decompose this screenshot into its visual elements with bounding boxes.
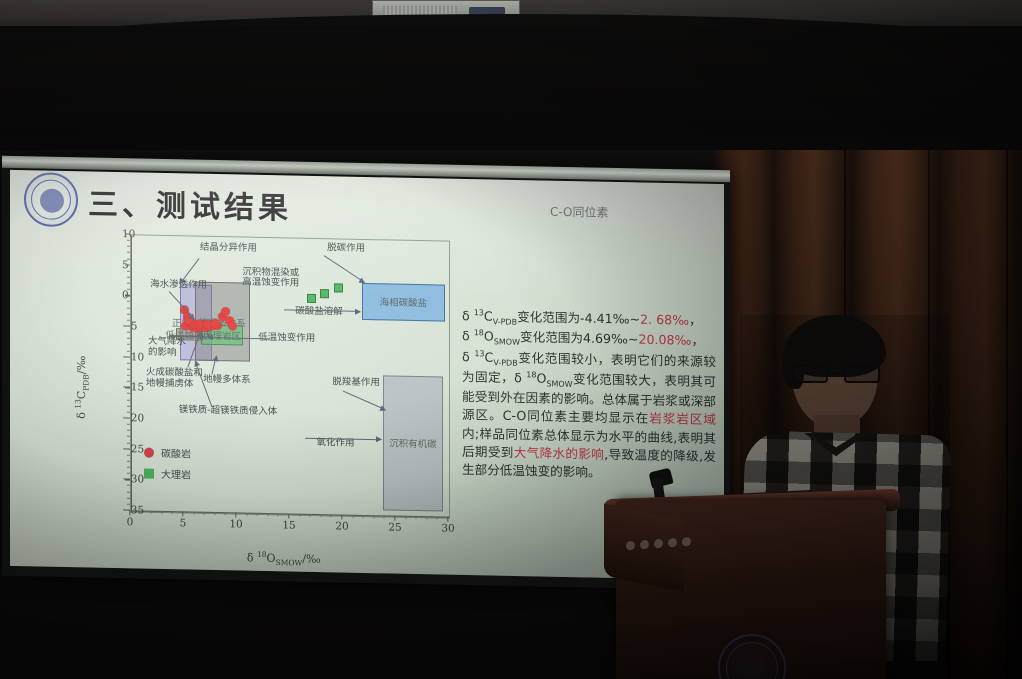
y-tick-minor — [127, 246, 130, 247]
y-tick-mark — [125, 325, 130, 326]
legend-marker-circle-icon — [144, 447, 154, 457]
x-tick-mark — [447, 517, 448, 522]
legend-label: 大理岩 — [161, 466, 191, 482]
y-axis-label: δ 13CPDB/‰ — [74, 356, 91, 419]
x-tick-minor — [278, 513, 279, 516]
y-tick-minor — [127, 240, 130, 241]
x-tick-minor — [310, 514, 311, 517]
y-tick-minor — [127, 399, 130, 400]
y-tick-minor — [127, 497, 130, 498]
chart-field-label: 海相碳酸盐 — [380, 295, 428, 310]
annotation-arrow — [343, 390, 386, 410]
x-tick-minor — [161, 511, 162, 514]
y-tick-minor — [127, 381, 130, 382]
photo-scene: 三、测试结果 C-O同位素 δ 13CPDB/‰ δ 18OSMOW/‰ 海相碳… — [0, 0, 1022, 679]
x-tick-minor — [373, 515, 374, 518]
y-tick-minor — [127, 344, 130, 345]
data-point-marble — [320, 289, 329, 298]
y-tick-minor — [127, 442, 130, 443]
x-tick-mark — [182, 511, 183, 516]
chart-annotation: 脱碳作用 — [327, 244, 365, 256]
y-tick-minor — [127, 485, 130, 486]
x-tick-minor — [384, 515, 385, 518]
x-tick-minor — [437, 516, 438, 519]
x-tick-minor — [320, 514, 321, 517]
slide-body-text: δ 13CV-PDB变化范围为-4.41‰~2. 68‰，δ 18OSMOW变化… — [462, 307, 716, 485]
y-tick-minor — [127, 258, 130, 259]
legend-label: 碳酸岩 — [161, 445, 191, 461]
y-tick-minor — [127, 405, 130, 406]
x-tick-mark — [341, 515, 342, 520]
chart-annotation: 地幔多体系 — [203, 375, 251, 387]
wood-seam — [1006, 150, 1008, 679]
x-tick-mark — [129, 510, 130, 515]
chart-annotation: 氧化作用 — [317, 438, 355, 450]
y-tick-minor — [127, 436, 130, 437]
x-tick-minor — [151, 511, 152, 514]
data-point-carbonatite — [228, 321, 237, 330]
x-tick-label: 0 — [127, 516, 134, 528]
y-tick-minor — [127, 332, 130, 333]
glasses-icon — [792, 365, 880, 383]
x-tick-minor — [363, 515, 364, 518]
legend-marker-square-icon — [144, 468, 154, 478]
y-tick-mark — [125, 295, 130, 296]
x-tick-mark — [235, 512, 236, 517]
x-tick-label: 10 — [229, 518, 242, 530]
x-tick-minor — [257, 513, 258, 516]
x-tick-minor — [416, 516, 417, 519]
y-tick-minor — [127, 461, 130, 462]
x-tick-minor — [246, 513, 247, 516]
y-tick-mark — [125, 387, 130, 388]
x-tick-minor — [352, 515, 353, 518]
y-tick-minor — [127, 369, 130, 370]
y-tick-minor — [127, 430, 130, 431]
y-tick-minor — [127, 283, 130, 284]
y-tick-minor — [127, 320, 130, 321]
x-tick-label: 30 — [441, 523, 454, 535]
y-tick-minor — [127, 375, 130, 376]
y-tick-minor — [127, 301, 130, 302]
y-tick-minor — [127, 313, 130, 314]
y-tick-minor — [127, 504, 130, 505]
chart-annotation: 沉积物混染或高温蚀变作用 — [242, 267, 299, 290]
x-axis-label: δ 18OSMOW/‰ — [247, 550, 321, 568]
chart-field-label: 沉积有机碳 — [389, 436, 437, 451]
y-tick-mark — [125, 264, 130, 265]
y-tick-mark — [125, 233, 130, 234]
y-tick-minor — [127, 270, 130, 271]
legend-item: 大理岩 — [144, 466, 191, 482]
chart-annotation: 镁铁质-超镁铁质侵入体 — [179, 405, 277, 418]
y-tick-minor — [127, 338, 130, 339]
y-tick-minor — [127, 307, 130, 308]
x-tick-label: 25 — [388, 521, 401, 533]
annotation-arrow — [324, 255, 365, 283]
page-title: 三、测试结果 — [88, 179, 292, 227]
x-tick-label: 15 — [282, 519, 295, 531]
x-tick-minor — [426, 516, 427, 519]
x-tick-minor — [193, 512, 194, 515]
y-tick-minor — [127, 252, 130, 253]
y-tick-minor — [127, 289, 130, 290]
x-tick-minor — [331, 514, 332, 517]
x-tick-minor — [172, 511, 173, 514]
annotation-arrow — [211, 356, 217, 375]
x-tick-minor — [204, 512, 205, 515]
y-tick-mark — [125, 417, 130, 418]
x-tick-minor — [299, 514, 300, 517]
chart-annotation: 结晶分异作用 — [200, 243, 257, 255]
legend-item: 碳酸岩 — [144, 445, 191, 461]
x-tick-minor — [267, 513, 268, 516]
y-tick-minor — [127, 454, 130, 455]
chart-annotation: 脱羧基作用 — [332, 377, 380, 389]
slide-subtitle: C-O同位素 — [550, 203, 609, 221]
x-tick-minor — [405, 516, 406, 519]
x-tick-mark — [288, 513, 289, 518]
university-seal-icon — [24, 172, 78, 227]
x-tick-label: 20 — [335, 520, 348, 532]
chart-annotation: 碳酸盐溶解 — [295, 306, 343, 318]
y-tick-minor — [127, 393, 130, 394]
y-tick-minor — [127, 473, 130, 474]
y-tick-mark — [125, 448, 130, 449]
chart-annotation: 大气降水的影响 — [148, 337, 186, 360]
x-tick-minor — [225, 512, 226, 515]
data-point-marble — [307, 294, 316, 303]
chart-legend: 碳酸岩大理岩 — [144, 445, 191, 488]
y-tick-minor — [127, 412, 130, 413]
x-tick-mark — [394, 516, 395, 521]
y-tick-minor — [127, 424, 130, 425]
y-tick-minor — [127, 467, 130, 468]
y-tick-mark — [125, 356, 130, 357]
y-tick-minor — [127, 491, 130, 492]
chart-field: 海相碳酸盐 — [362, 283, 445, 321]
chart-field: 沉积有机碳 — [383, 375, 442, 511]
y-tick-minor — [127, 362, 130, 363]
chart-annotation: 火成碳酸盐和地幔捕虏体 — [146, 368, 203, 391]
y-tick-minor — [127, 277, 130, 278]
x-tick-label: 5 — [180, 517, 187, 529]
co-isotope-scatter-chart: δ 13CPDB/‰ δ 18OSMOW/‰ 海相碳酸盐沉积有机碳正常岩浆岩地幔… — [84, 227, 454, 554]
y-tick-mark — [125, 479, 130, 480]
data-point-marble — [334, 283, 343, 292]
y-tick-minor — [127, 350, 130, 351]
x-tick-minor — [140, 510, 141, 513]
x-tick-minor — [214, 512, 215, 515]
